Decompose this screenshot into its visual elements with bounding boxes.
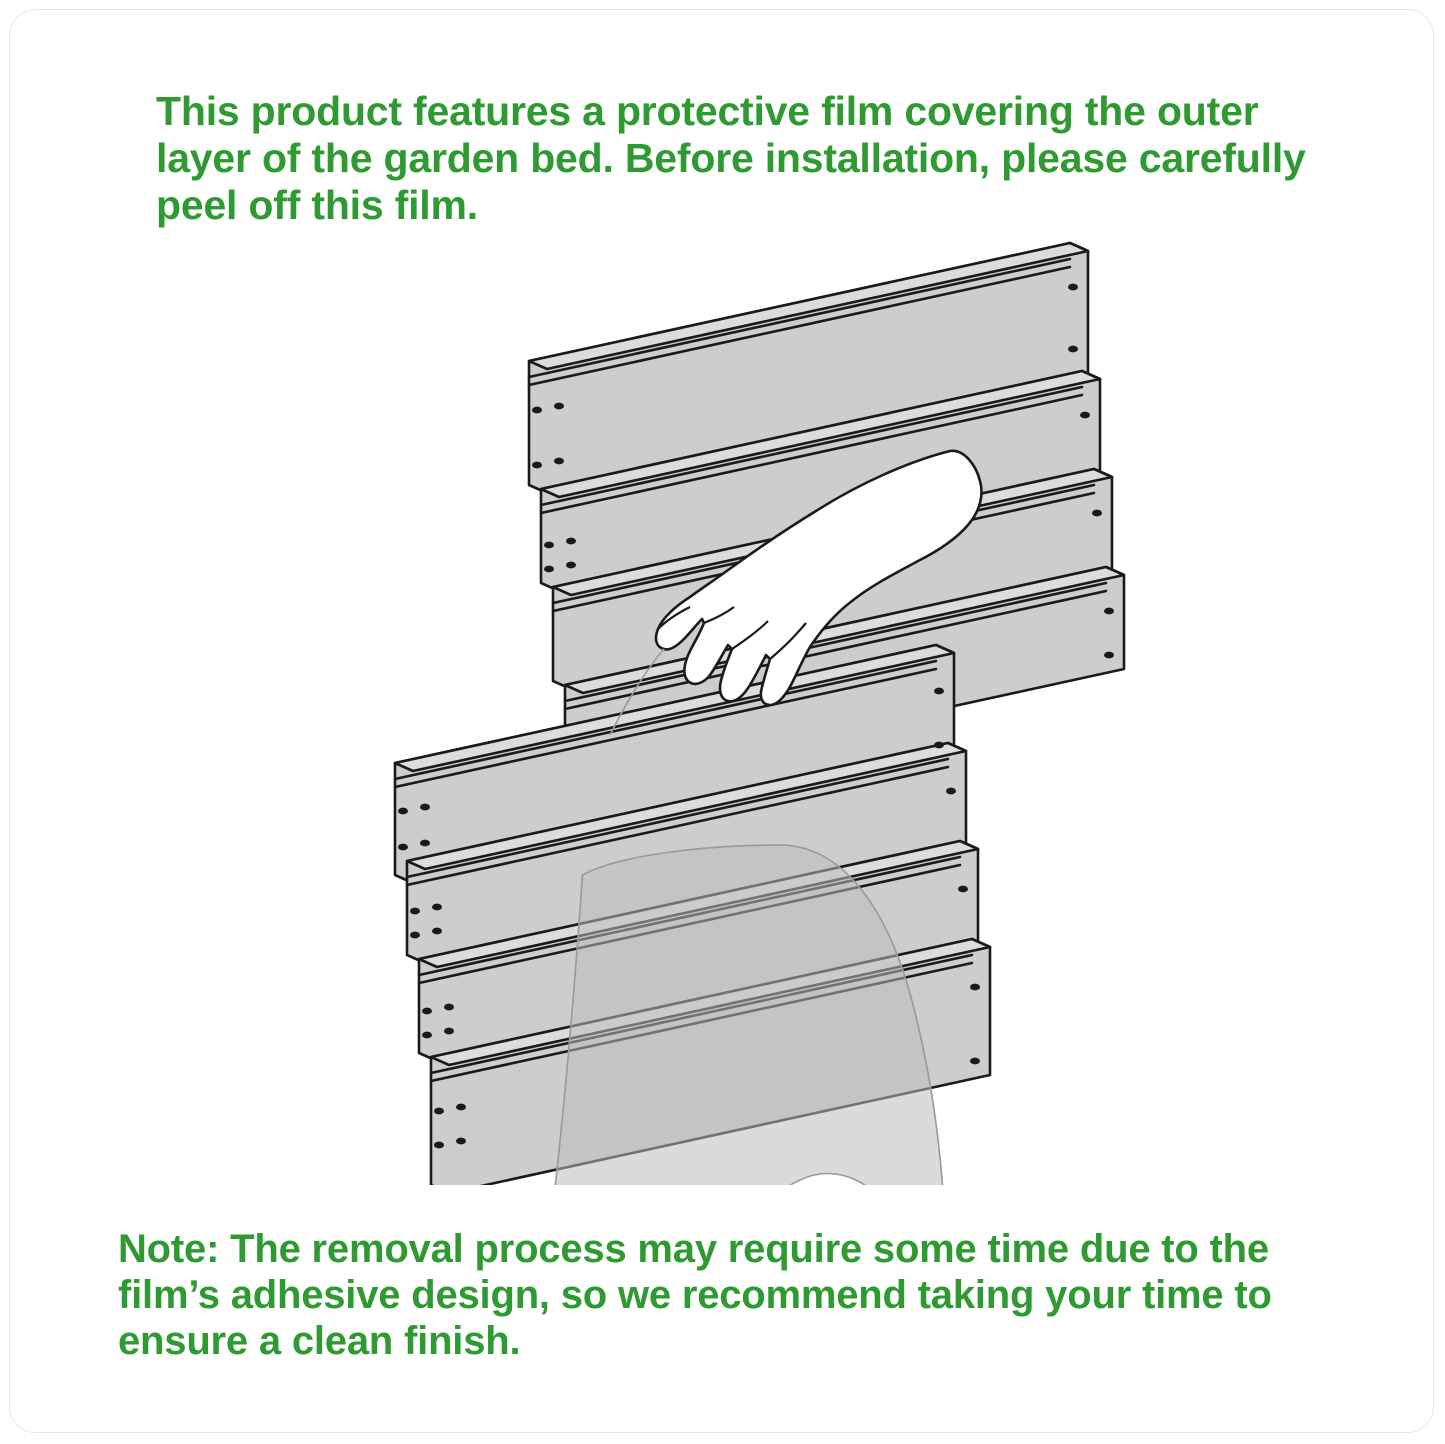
top-instruction-text: This product features a protective film … [156,88,1316,229]
instruction-card: This product features a protective film … [9,9,1434,1433]
bottom-note-text: Note: The removal process may require so… [118,1226,1358,1364]
illustration-container [10,225,1434,1185]
garden-bed-film-peel-illustration [10,225,1434,1185]
